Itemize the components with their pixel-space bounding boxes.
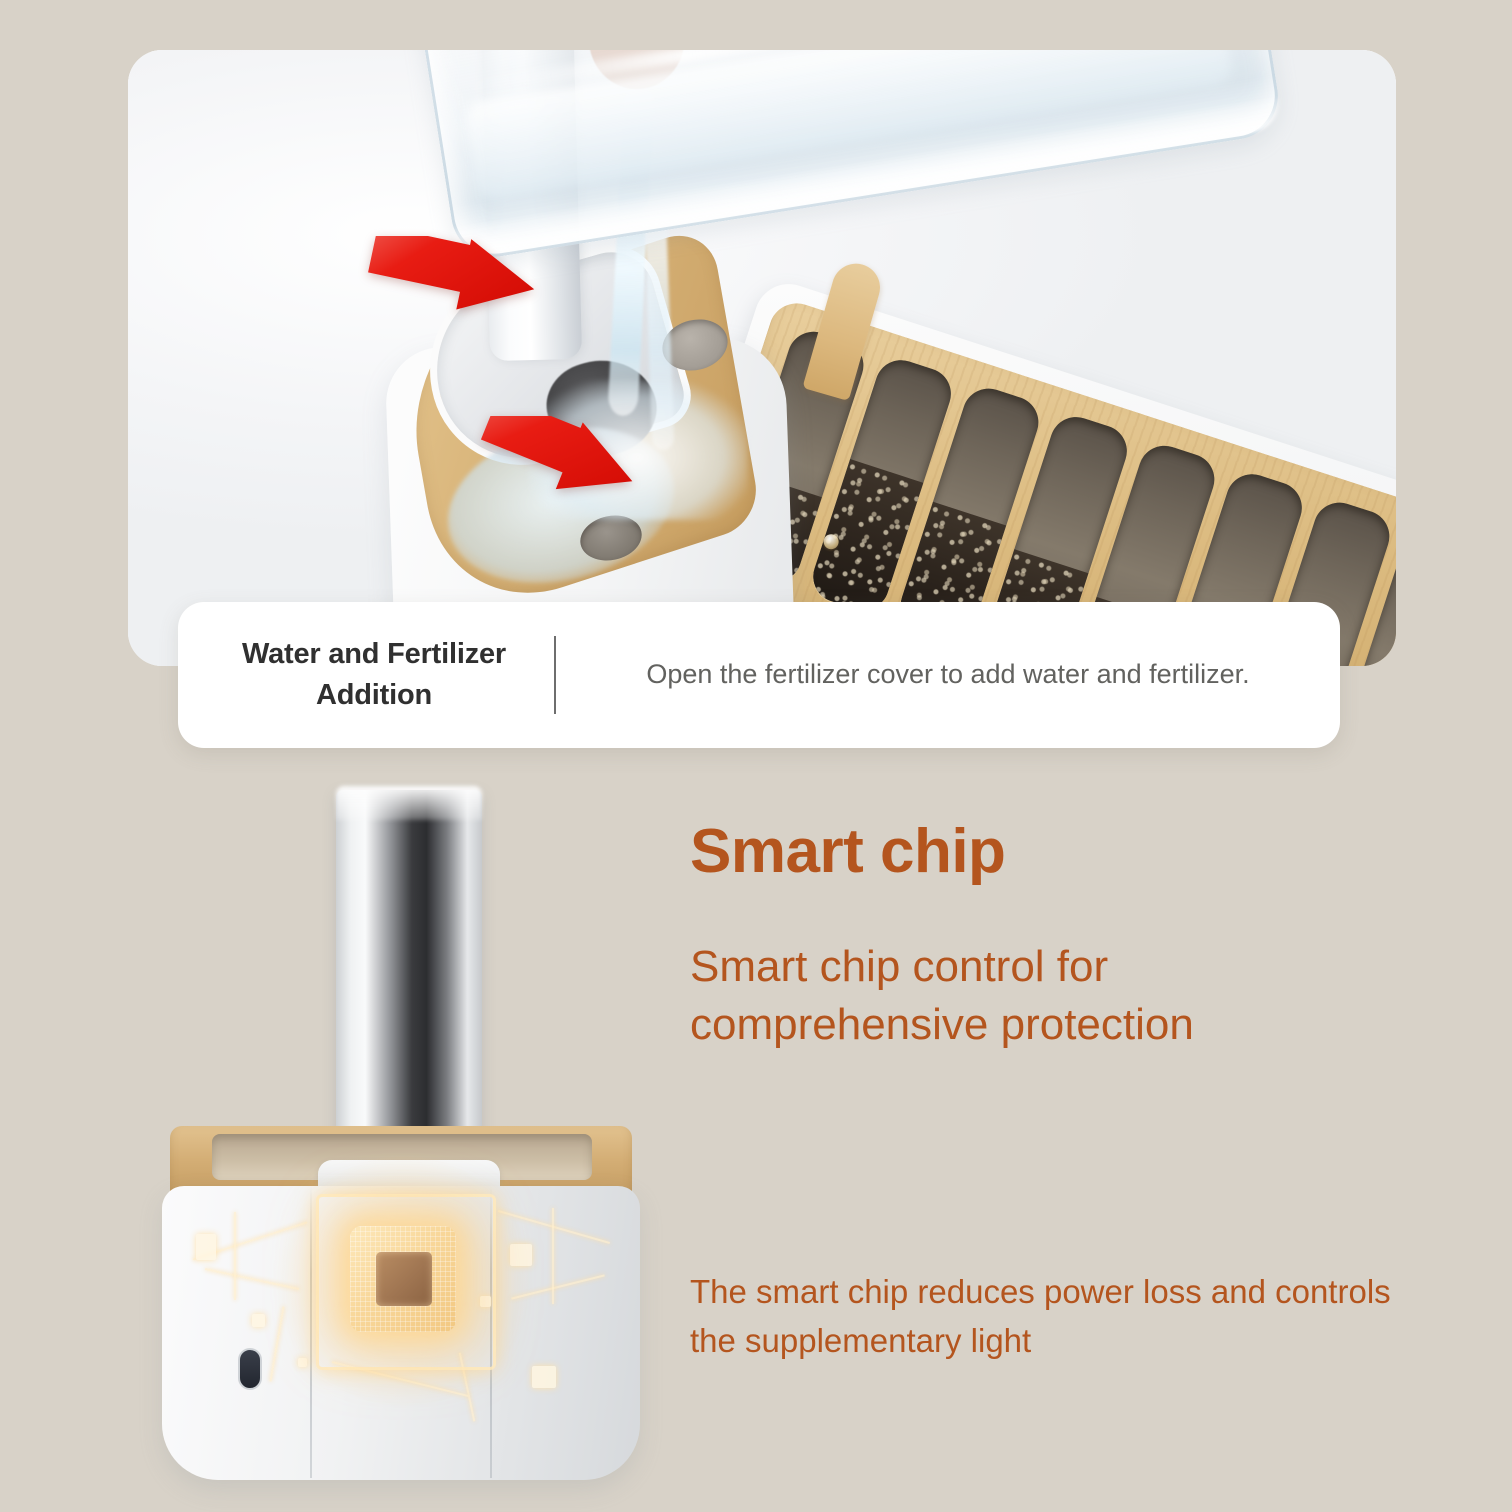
smart-chip-product-photo bbox=[150, 782, 650, 1482]
grow-light-pole-top bbox=[336, 786, 482, 820]
grow-light-pole bbox=[336, 790, 482, 1172]
arrow-fertilizer-port-icon bbox=[368, 236, 538, 328]
subheadline: Smart chip control for comprehensive pro… bbox=[690, 938, 1330, 1054]
caption-card: Water and Fertilizer Addition Open the f… bbox=[178, 602, 1340, 748]
caption-title: Water and Fertilizer Addition bbox=[178, 634, 554, 716]
usb-c-port bbox=[238, 1348, 262, 1390]
caption-title-line1: Water and Fertilizer bbox=[194, 634, 554, 675]
smart-chip-text-column: Smart chip Smart chip control for compre… bbox=[690, 818, 1410, 1054]
caption-title-line2: Addition bbox=[194, 675, 554, 716]
page-title: Smart chip bbox=[690, 818, 1410, 886]
planter-body-shell bbox=[162, 1186, 640, 1480]
shell-seam bbox=[310, 1186, 312, 1478]
body-description: The smart chip reduces power loss and co… bbox=[690, 1268, 1420, 1366]
shell-seam bbox=[490, 1186, 492, 1478]
caption-description: Open the fertilizer cover to add water a… bbox=[556, 655, 1340, 694]
water-fertilizer-photo-panel bbox=[128, 50, 1396, 666]
arrow-water-port-icon bbox=[480, 416, 640, 508]
